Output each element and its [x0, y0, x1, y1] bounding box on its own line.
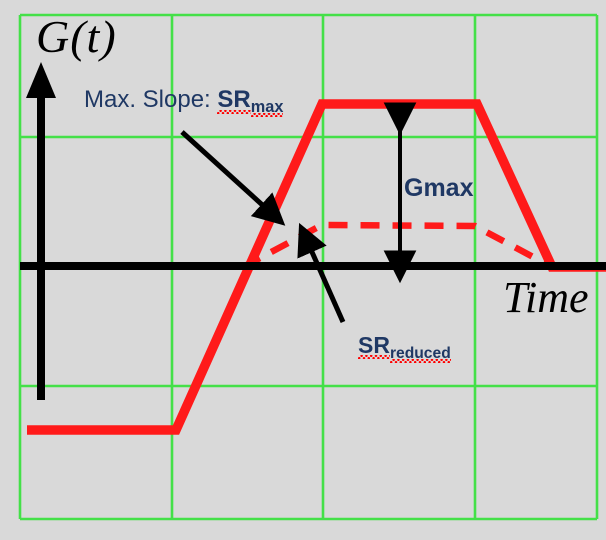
sr-reduced-annotation: SRreduced [358, 334, 451, 357]
sr-max-pointer-arrow [182, 132, 269, 211]
waveform-reduced-slew-rate [243, 225, 552, 267]
max-slope-annotation: Max. Slope: SRmax [84, 88, 283, 112]
y-axis-title-symbol: G [36, 11, 70, 62]
x-axis-title: Time [503, 276, 589, 320]
max-slope-symbol: SR [217, 88, 250, 112]
max-slope-subscript: max [251, 99, 284, 115]
y-axis-title-argument: (t) [70, 11, 116, 62]
sr-reduced-pointer-arrow [308, 243, 343, 322]
gradient-waveform-figure: G(t) Time Max. Slope: SRmax Gmax SRreduc… [0, 0, 606, 540]
y-axis-arrowhead [26, 62, 56, 98]
sr-reduced-symbol: SR [358, 334, 390, 357]
gmax-annotation: Gmax [404, 176, 473, 201]
plot-canvas [0, 0, 606, 540]
y-axis-title: G(t) [36, 14, 117, 60]
sr-reduced-subscript: reduced [390, 346, 451, 362]
max-slope-prefix-text: Max. Slope: [84, 86, 217, 113]
